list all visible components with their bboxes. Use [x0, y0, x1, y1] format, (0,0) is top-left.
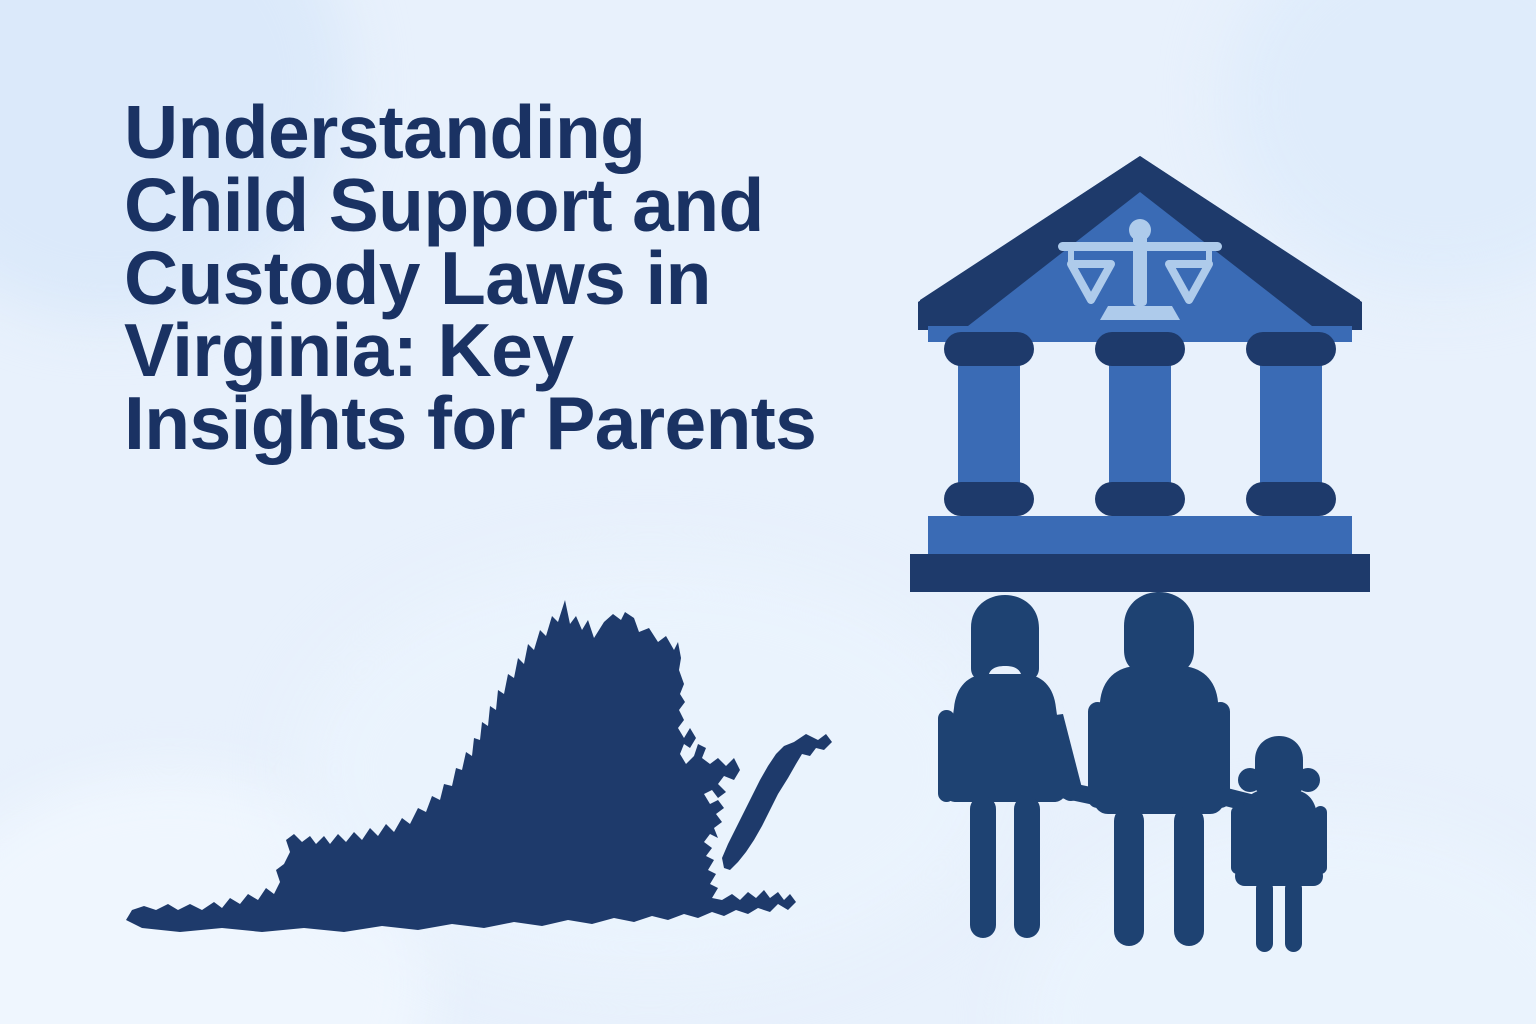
courthouse-step [928, 516, 1352, 558]
column-base-left [944, 482, 1034, 516]
courthouse-columns [944, 332, 1336, 516]
page-title: Understanding Child Support and Custody … [124, 96, 914, 460]
figure-daughter [1231, 736, 1327, 952]
column-capital-right [1246, 332, 1336, 366]
virginia-map-silhouette [118, 598, 848, 933]
virginia-eastern-shore [722, 734, 832, 870]
column-base-right [1246, 482, 1336, 516]
column-capital-left [944, 332, 1034, 366]
column-capital-center [1095, 332, 1185, 366]
virginia-mainland [126, 600, 796, 932]
family-silhouette [930, 590, 1360, 960]
hero-banner: Understanding Child Support and Custody … [0, 0, 1536, 1024]
courthouse-icon [880, 130, 1400, 610]
courthouse-plinth [910, 554, 1370, 592]
column-base-center [1095, 482, 1185, 516]
